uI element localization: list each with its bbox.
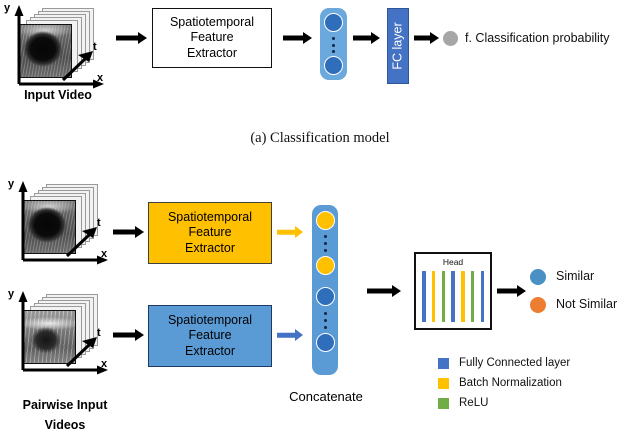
fc-layer-label: FC layer: [391, 22, 405, 69]
spatiotemporal-feature-extractor-b-top: Spatiotemporal Feature Extractor: [148, 202, 272, 264]
head-bar: [422, 271, 426, 322]
spatiotemporal-feature-extractor-a: Spatiotemporal Feature Extractor: [152, 8, 272, 68]
output-dot-similar: [530, 269, 546, 285]
input-video-label-a: Input Video: [8, 88, 108, 102]
legend-swatch-relu: [438, 398, 449, 409]
head-bar: [451, 271, 455, 322]
axis-label-y: y: [8, 178, 14, 190]
ellipsis-dots: [332, 37, 336, 53]
extractor-line-3: Extractor: [185, 344, 235, 359]
concat-node-amber: [316, 256, 335, 275]
fc-layer-box-a: FC layer: [387, 8, 409, 84]
concat-node-amber: [316, 211, 335, 230]
ellipsis-dots: [323, 235, 327, 252]
legend-item-batch-normalization: Batch Normalization: [438, 377, 562, 389]
legend-item-relu: ReLU: [438, 397, 488, 409]
head-bar: [432, 271, 436, 322]
arrow-extractor-to-concat-top: [277, 225, 305, 239]
extractor-line-2: Feature: [190, 30, 233, 45]
axis-label-x: x: [101, 358, 107, 370]
ellipsis-dots: [323, 312, 327, 329]
axis-label-x: x: [97, 72, 103, 84]
axis-label-t: t: [97, 327, 101, 339]
legend-label-fully-connected: Fully Connected layer: [459, 357, 570, 369]
head-title: Head: [416, 257, 490, 267]
legend-label-batch-normalization: Batch Normalization: [459, 377, 562, 389]
head-box: Head: [414, 252, 492, 330]
extractor-line-1: Spatiotemporal: [170, 15, 254, 30]
arrow-extractor-to-features-a: [283, 30, 313, 46]
arrow-extractor-to-concat-bottom: [277, 328, 305, 342]
extractor-line-3: Extractor: [187, 46, 237, 61]
concatenate-feature-vector: [312, 205, 338, 375]
classification-output-label: f. Classification probability: [465, 31, 610, 45]
axis-label-t: t: [97, 217, 101, 229]
spatiotemporal-feature-extractor-b-bottom: Spatiotemporal Feature Extractor: [148, 305, 272, 367]
arrow-input-to-extractor-b-bottom: [113, 327, 145, 343]
classification-output-dot: [443, 31, 458, 46]
arrow-head-to-outputs: [497, 283, 527, 299]
arrow-input-to-extractor-a: [116, 30, 148, 46]
extractor-line-2: Feature: [188, 328, 231, 343]
legend-item-fully-connected: Fully Connected layer: [438, 357, 570, 369]
axis-label-t: t: [93, 41, 97, 53]
feature-node: [324, 56, 343, 75]
extractor-line-3: Extractor: [185, 241, 235, 256]
panel-a-caption: (a) Classification model: [0, 130, 640, 147]
feature-vector-a: [320, 8, 347, 80]
output-label-not-similar: Not Similar: [556, 297, 617, 311]
arrow-fc-to-output-a: [414, 30, 440, 46]
extractor-line-1: Spatiotemporal: [168, 313, 252, 328]
axis-label-x: x: [101, 248, 107, 260]
concatenate-label: Concatenate: [287, 389, 365, 404]
head-bar: [481, 271, 485, 322]
pairwise-input-label-line-2: Videos: [2, 418, 128, 432]
head-bars: [422, 271, 484, 322]
extractor-line-2: Feature: [188, 225, 231, 240]
head-bar: [461, 271, 465, 322]
arrow-concat-to-head: [367, 283, 403, 299]
arrow-input-to-extractor-b-top: [113, 224, 145, 240]
head-bar: [471, 271, 475, 322]
legend-swatch-batch-normalization: [438, 378, 449, 389]
concat-node-blue: [316, 287, 335, 306]
arrow-features-to-fc-a: [353, 30, 381, 46]
extractor-line-1: Spatiotemporal: [168, 210, 252, 225]
output-label-similar: Similar: [556, 269, 594, 283]
axis-label-y: y: [4, 2, 10, 14]
legend-label-relu: ReLU: [459, 397, 488, 409]
head-bar: [442, 271, 446, 322]
feature-node: [324, 13, 343, 32]
axis-label-y: y: [8, 288, 14, 300]
legend-swatch-fully-connected: [438, 358, 449, 369]
output-dot-not-similar: [530, 297, 546, 313]
concat-node-blue: [316, 333, 335, 352]
pairwise-input-label-line-1: Pairwise Input: [2, 398, 128, 412]
